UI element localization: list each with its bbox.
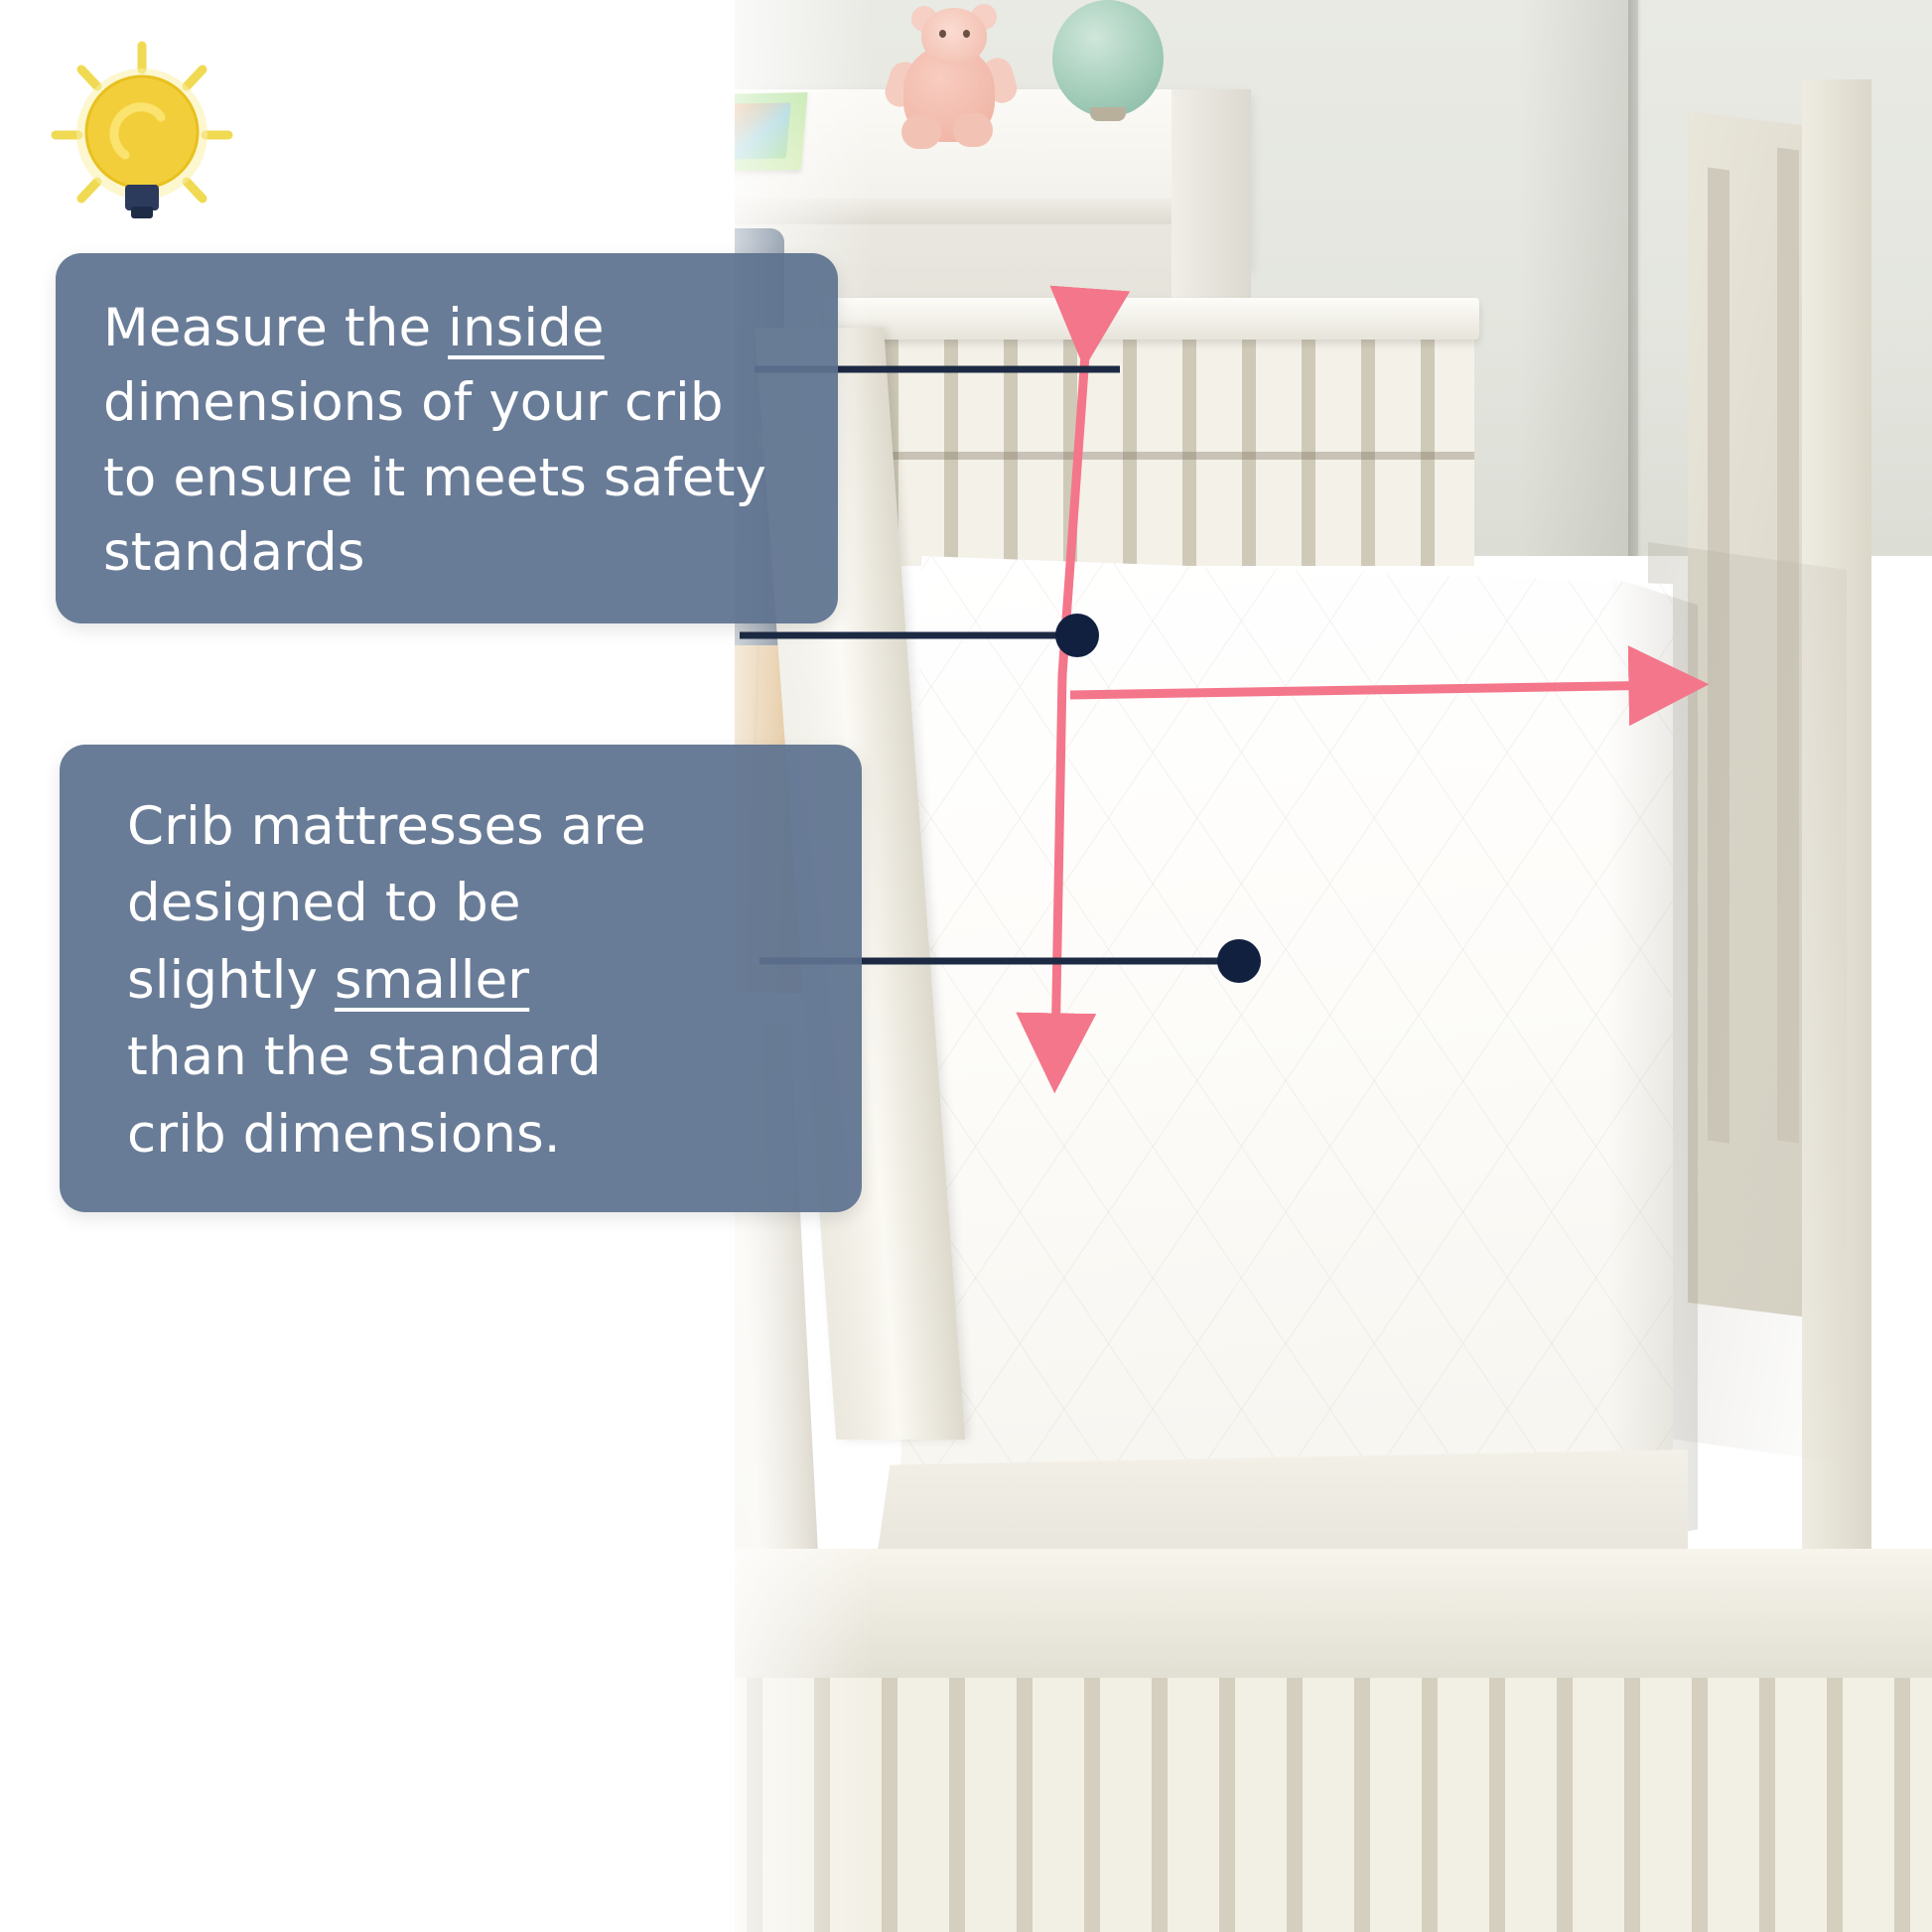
callout-1-line-2: dimensions of your crib [103,365,798,440]
teddy-bear-eye-left [939,30,946,38]
wall-shadow [1519,0,1638,556]
sage-lamp [1052,0,1164,117]
wall-corner [1628,0,1642,556]
teddy-bear-leg-left [901,115,941,149]
teddy-bear-head [921,8,987,66]
callout-2-line-4: than the standard [127,1019,822,1095]
callout-2-line-2: designed to be [127,865,822,941]
crib-back-rail-middle [839,452,1474,460]
infographic-canvas: Measure the inside dimensions of your cr… [0,0,1932,1932]
mattress-quilt-pattern [898,556,1673,1559]
mattress-smaller-than-crib-callout[interactable]: Crib mattresses are designed to be sligh… [60,745,862,1212]
callout-1-line-3: to ensure it meets safety [103,441,798,515]
lightbulb-icon [48,40,236,228]
crib-back-top-rail [824,298,1479,340]
callout-2-line-5: crib dimensions. [127,1096,822,1173]
callout-2-line-1: Crib mattresses are [127,788,822,865]
callout-1-line-1: Measure the inside [103,291,798,365]
teddy-bear-leg-right [953,113,993,147]
emphasis-smaller: smaller [335,950,529,1011]
callout-2-line-3: slightly smaller [127,942,822,1019]
crib-front-slats [695,1678,1932,1932]
callout-1-line-4: standards [103,515,798,590]
sage-lamp-base [1090,107,1126,121]
teddy-bear-eye-right [963,30,970,38]
measure-inside-dimensions-callout[interactable]: Measure the inside dimensions of your cr… [56,253,838,623]
mattress-shadow [1608,576,1698,1549]
emphasis-inside: inside [448,298,605,358]
